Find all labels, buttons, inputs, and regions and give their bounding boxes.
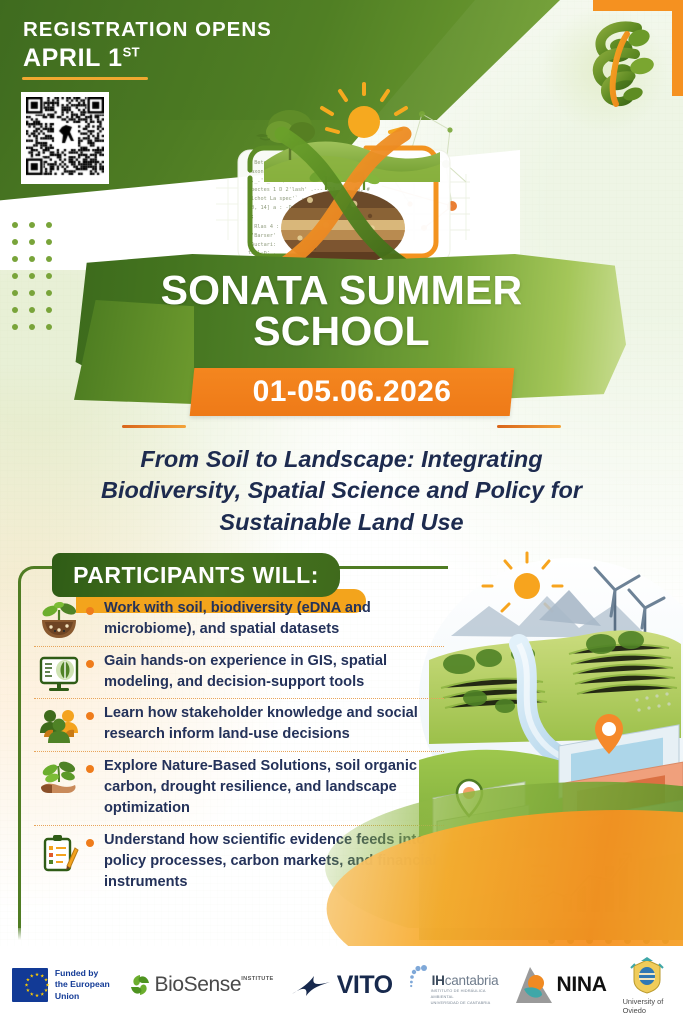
registration-underline: [22, 77, 148, 80]
qr-code-canvas[interactable]: [26, 97, 104, 179]
eu-flag-icon: [12, 968, 48, 1002]
eu-funding-line2: the European Union: [55, 979, 114, 1002]
biosense-bio-text: Bio: [154, 973, 183, 997]
registration-date-main: APRIL 1: [23, 44, 123, 72]
biosense-institute-text: INSTITUTE: [241, 976, 274, 982]
ihcantabria-ih: IH: [432, 973, 445, 988]
participants-list-item: Work with soil, biodiversity (eDNA and m…: [34, 594, 444, 646]
clipboard-pencil-icon: [34, 830, 84, 872]
poster-root: REGISTRATION OPENS APRIL 1ST: [0, 0, 683, 1024]
ihcantabria-logo: IHcantabria INSTITUTO DE HIDRÁULICA AMBI…: [409, 964, 499, 1006]
ihcantabria-wave-icon: [409, 964, 429, 988]
participants-heading: PARTICIPANTS WILL:: [52, 553, 340, 597]
oviedo-logo: University of Oviedo: [623, 956, 671, 1015]
participants-list-item-text: Explore Nature-Based Solutions, soil org…: [104, 756, 444, 820]
registration-opens-label: REGISTRATION OPENS: [23, 18, 272, 42]
page-title-line2: SCHOOL: [0, 311, 683, 352]
eu-funding-line1: Funded by: [55, 968, 114, 979]
qr-code-container[interactable]: [21, 92, 109, 184]
page-subtitle: From Soil to Landscape: Integrating Biod…: [78, 444, 605, 538]
date-dash-right: [497, 425, 561, 428]
participants-list-item: Gain hands-on experience in GIS, spatial…: [34, 646, 444, 699]
eu-funding-text: Funded by the European Union: [55, 968, 114, 1002]
nina-mountain-icon: [514, 965, 554, 1005]
hero-illustration: # Beta HDIVsC.4 ,,specific taxonomie +#1…: [214, 78, 472, 278]
vito-swoosh-icon: [290, 972, 332, 998]
ihcantabria-sub2: UNIVERSIDAD DE CANTABRIA: [409, 1000, 491, 1006]
biosense-logo: BioSense INSTITUTE: [129, 973, 273, 997]
hand-with-plant-icon: [34, 756, 84, 798]
svg-text:s Rlas 4 :: s Rlas 4 :: [248, 224, 279, 230]
participants-heading-label: PARTICIPANTS WILL:: [73, 562, 319, 589]
participants-panel-tail: [18, 924, 21, 940]
bullet-dot-icon: [86, 839, 94, 847]
page-title-line1: SONATA SUMMER: [161, 267, 523, 313]
sonata-logo: [575, 14, 661, 110]
participants-list-item-text: Gain hands-on experience in GIS, spatial…: [104, 651, 444, 694]
bullet-dot-icon: [86, 607, 94, 615]
biosense-sense-text: Sense: [184, 973, 242, 997]
bullet-dot-icon: [86, 712, 94, 720]
eu-funding-logo: Funded by the European Union: [12, 968, 113, 1002]
participants-list-item-text: Learn how stakeholder knowledge and soci…: [104, 703, 444, 746]
vito-wordmark: VITO: [337, 971, 393, 1000]
ihcantabria-cantabria: cantabria: [445, 973, 499, 988]
footer-logos: Funded by the European Union BioSense IN…: [0, 946, 683, 1024]
event-date: 01-05.06.2026: [192, 368, 512, 416]
registration-date-suffix: ST: [123, 45, 140, 60]
qr-code[interactable]: [26, 97, 104, 179]
ihcantabria-wordmark: IHcantabria: [432, 973, 499, 988]
gis-monitor-icon: [34, 651, 84, 693]
ihcantabria-sub1: INSTITUTO DE HIDRÁULICA AMBIENTAL: [409, 988, 499, 1000]
nina-logo: NINA: [514, 965, 606, 1005]
page-title: SONATA SUMMER SCHOOL: [0, 270, 683, 351]
bullet-dot-icon: [86, 660, 94, 668]
participants-list-item: Explore Nature-Based Solutions, soil org…: [34, 751, 444, 825]
vito-logo: VITO: [290, 971, 393, 1000]
ihcantabria-row: IHcantabria: [409, 964, 499, 988]
registration-date-label: APRIL 1ST: [23, 44, 140, 73]
nina-wordmark: NINA: [556, 973, 606, 997]
date-dash-left: [122, 425, 186, 428]
oviedo-crest-icon: [627, 956, 667, 996]
participants-list-item: Learn how stakeholder knowledge and soci…: [34, 698, 444, 751]
bullet-dot-icon: [86, 765, 94, 773]
stakeholder-people-icon: [34, 703, 84, 745]
oviedo-wordmark: University of Oviedo: [623, 997, 671, 1015]
participants-list-item-text: Work with soil, biodiversity (eDNA and m…: [104, 598, 444, 641]
biosense-leaf-icon: [129, 973, 151, 997]
seedling-in-soil-icon: [34, 598, 84, 640]
